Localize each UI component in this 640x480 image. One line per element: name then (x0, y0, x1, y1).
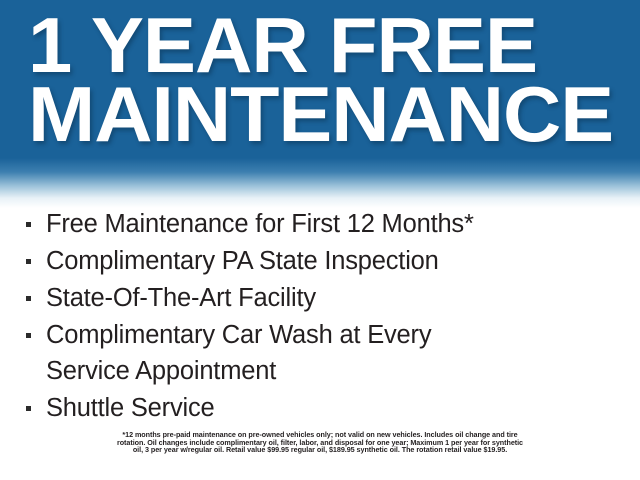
benefit-label: Complimentary Car Wash at Every (46, 317, 431, 353)
benefit-label: Free Maintenance for First 12 Months* (46, 206, 474, 242)
list-item: Free Maintenance for First 12 Months* (0, 206, 640, 242)
disclaimer-line-3: oil, 3 per year w/regular oil. Retail va… (0, 446, 640, 454)
list-item: State-Of-The-Art Facility (0, 280, 640, 316)
list-item: Complimentary PA State Inspection (0, 243, 640, 279)
list-item: Shuttle Service (0, 390, 640, 426)
hero-banner: 1 YEAR FREE MAINTENANCE (0, 0, 640, 208)
headline-line-1: 1 YEAR FREE (28, 12, 636, 79)
headline-line-2: MAINTENANCE (28, 81, 640, 148)
benefit-label: State-Of-The-Art Facility (46, 280, 316, 316)
disclaimer-text: *12 months pre-paid maintenance on pre-o… (0, 431, 640, 454)
benefit-label-group: Complimentary Car Wash at Every Service … (46, 317, 431, 389)
benefits-list: Free Maintenance for First 12 Months* Co… (0, 206, 640, 427)
bullet-square-icon (26, 222, 31, 227)
benefit-label: Shuttle Service (46, 390, 215, 426)
benefit-label-continued: Service Appointment (46, 353, 431, 389)
bullet-square-icon (26, 406, 31, 411)
bullet-square-icon (26, 296, 31, 301)
bullet-square-icon (26, 259, 31, 264)
benefit-label: Complimentary PA State Inspection (46, 243, 439, 279)
bullet-square-icon (26, 333, 31, 338)
list-item: Complimentary Car Wash at Every Service … (0, 317, 640, 389)
hero-headline-group: 1 YEAR FREE MAINTENANCE (28, 12, 624, 148)
